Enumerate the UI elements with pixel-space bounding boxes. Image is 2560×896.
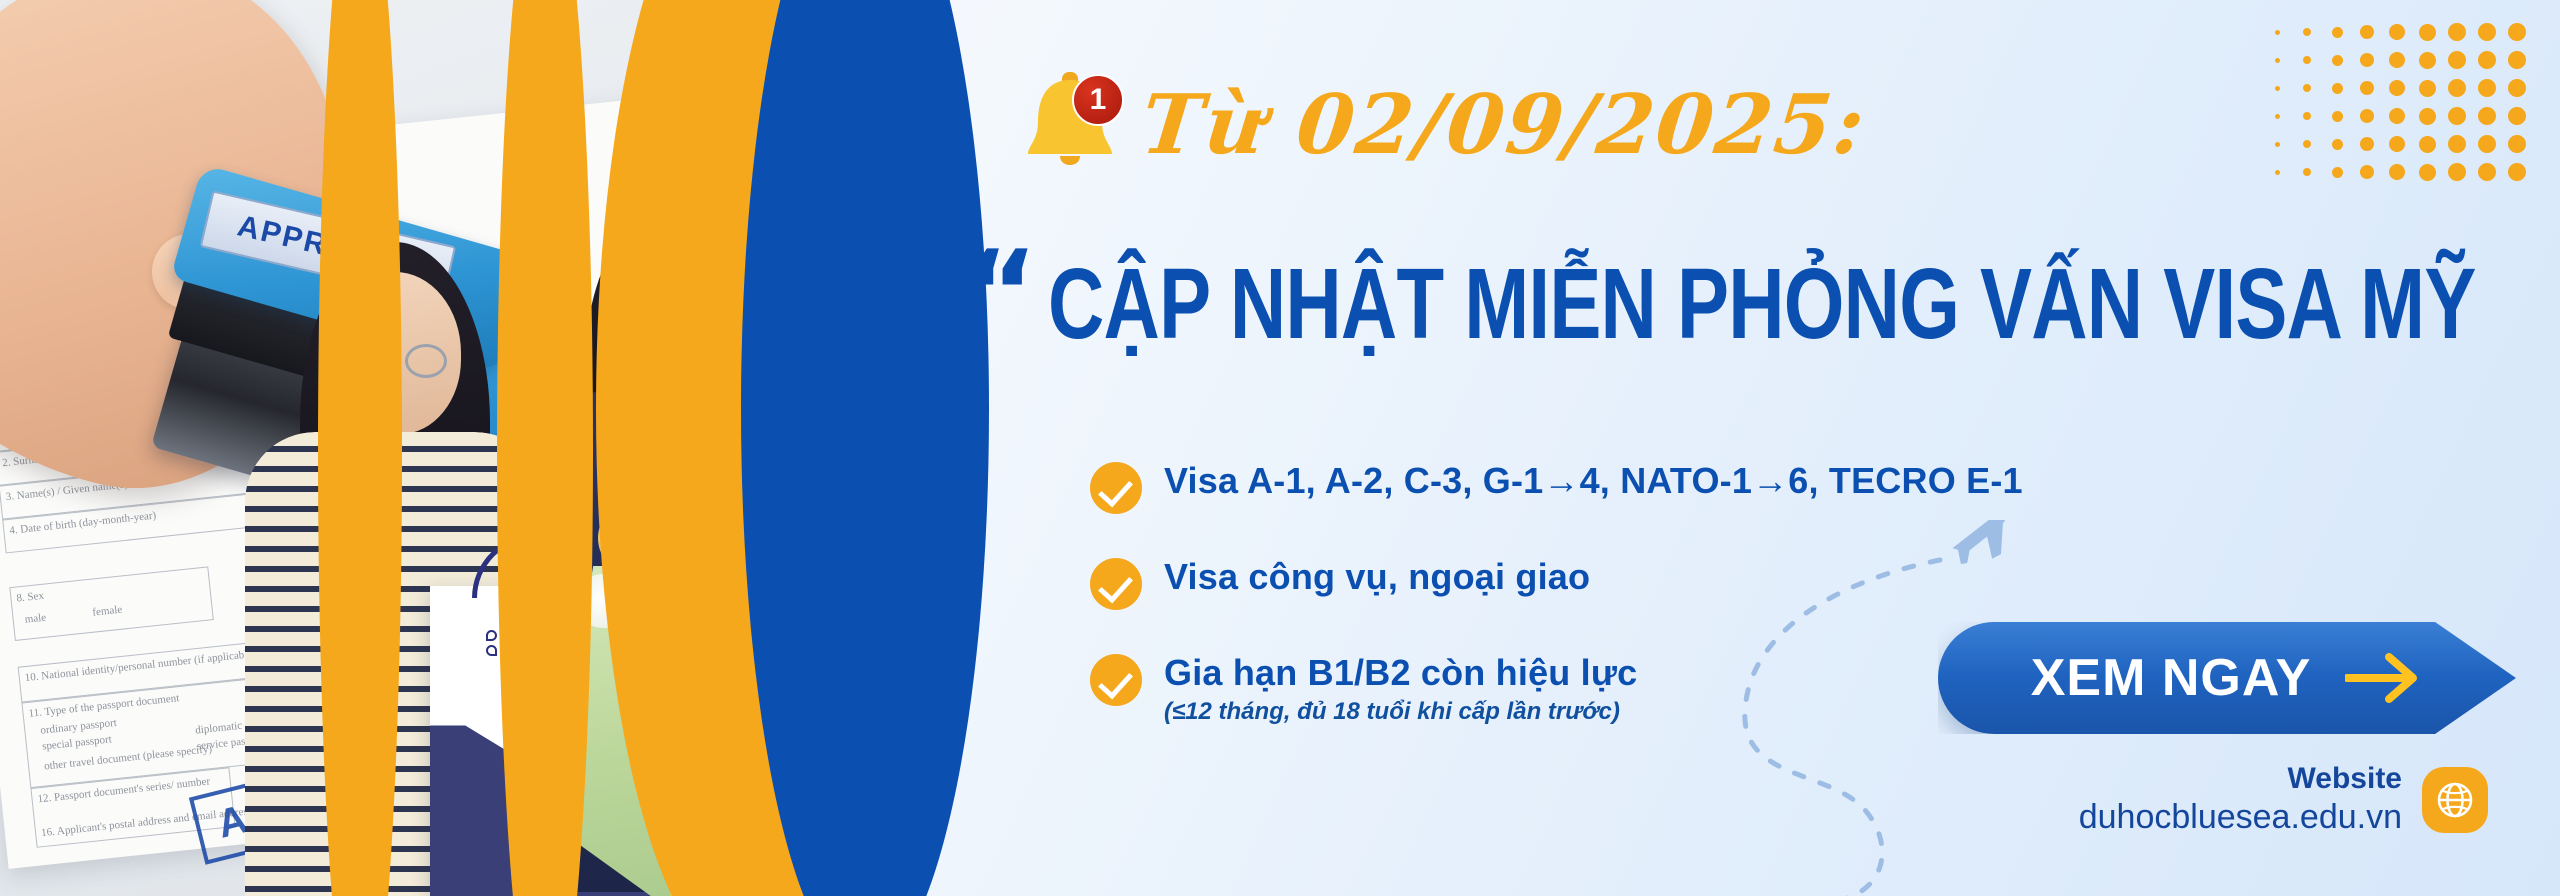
date-headline-row: 1 Từ 02/09/2025:: [1020, 70, 1866, 180]
form-field-label: male: [24, 612, 47, 626]
list-item: Visa công vụ, ngoại giao: [1090, 556, 2023, 610]
cta-button[interactable]: XEM NGAY: [1938, 622, 2516, 734]
notification-badge: 1: [1072, 74, 1124, 126]
list-item-subtext: (≤12 tháng, đủ 18 tuổi khi cấp lần trước…: [1164, 698, 1637, 726]
check-circle-icon: [1090, 654, 1142, 706]
date-headline: Từ 02/09/2025:: [1137, 77, 1871, 173]
swoosh-blue-main: [740, 0, 990, 896]
list-item: Visa A-1, A-2, C-3, G-1→4, NATO-1→6, TEC…: [1090, 460, 2023, 514]
check-circle-icon: [1090, 462, 1142, 514]
website-url[interactable]: duhocbluesea.edu.vn: [2079, 797, 2402, 838]
feature-list: Visa A-1, A-2, C-3, G-1→4, NATO-1→6, TEC…: [1090, 460, 2023, 768]
list-item-label: Visa công vụ, ngoại giao: [1164, 556, 1590, 597]
website-texts: Website duhocbluesea.edu.vn: [2079, 762, 2402, 837]
list-item-label: Gia hạn B1/B2 còn hiệu lực: [1164, 652, 1637, 693]
dot-pattern-decoration: [2262, 18, 2532, 186]
quote-mark-icon: “: [962, 252, 1038, 336]
globe-icon: [2434, 779, 2476, 821]
promo-banner: FORM photo 1. Surname 2. Surname at birt…: [0, 0, 2560, 896]
list-item: Gia hạn B1/B2 còn hiệu lực (≤12 tháng, đ…: [1090, 652, 2023, 726]
check-circle-icon: [1090, 558, 1142, 610]
bell-notification: 1: [1020, 70, 1120, 180]
website-label: Website: [2079, 762, 2402, 797]
main-headline: CẬP NHẬT MIỄN PHỎNG VẤN VISA MỸ: [1048, 252, 2476, 357]
list-item-label: Visa A-1, A-2, C-3, G-1→4, NATO-1→6, TEC…: [1164, 460, 2023, 501]
arrow-right-icon: [2345, 652, 2423, 704]
globe-icon-chip[interactable]: [2422, 767, 2488, 833]
main-headline-row: “ CẬP NHẬT MIỄN PHỎNG VẤN VISA MỸ: [962, 252, 2560, 357]
cta-label: XEM NGAY: [2031, 648, 2312, 708]
website-block[interactable]: Website duhocbluesea.edu.vn: [2079, 762, 2488, 837]
